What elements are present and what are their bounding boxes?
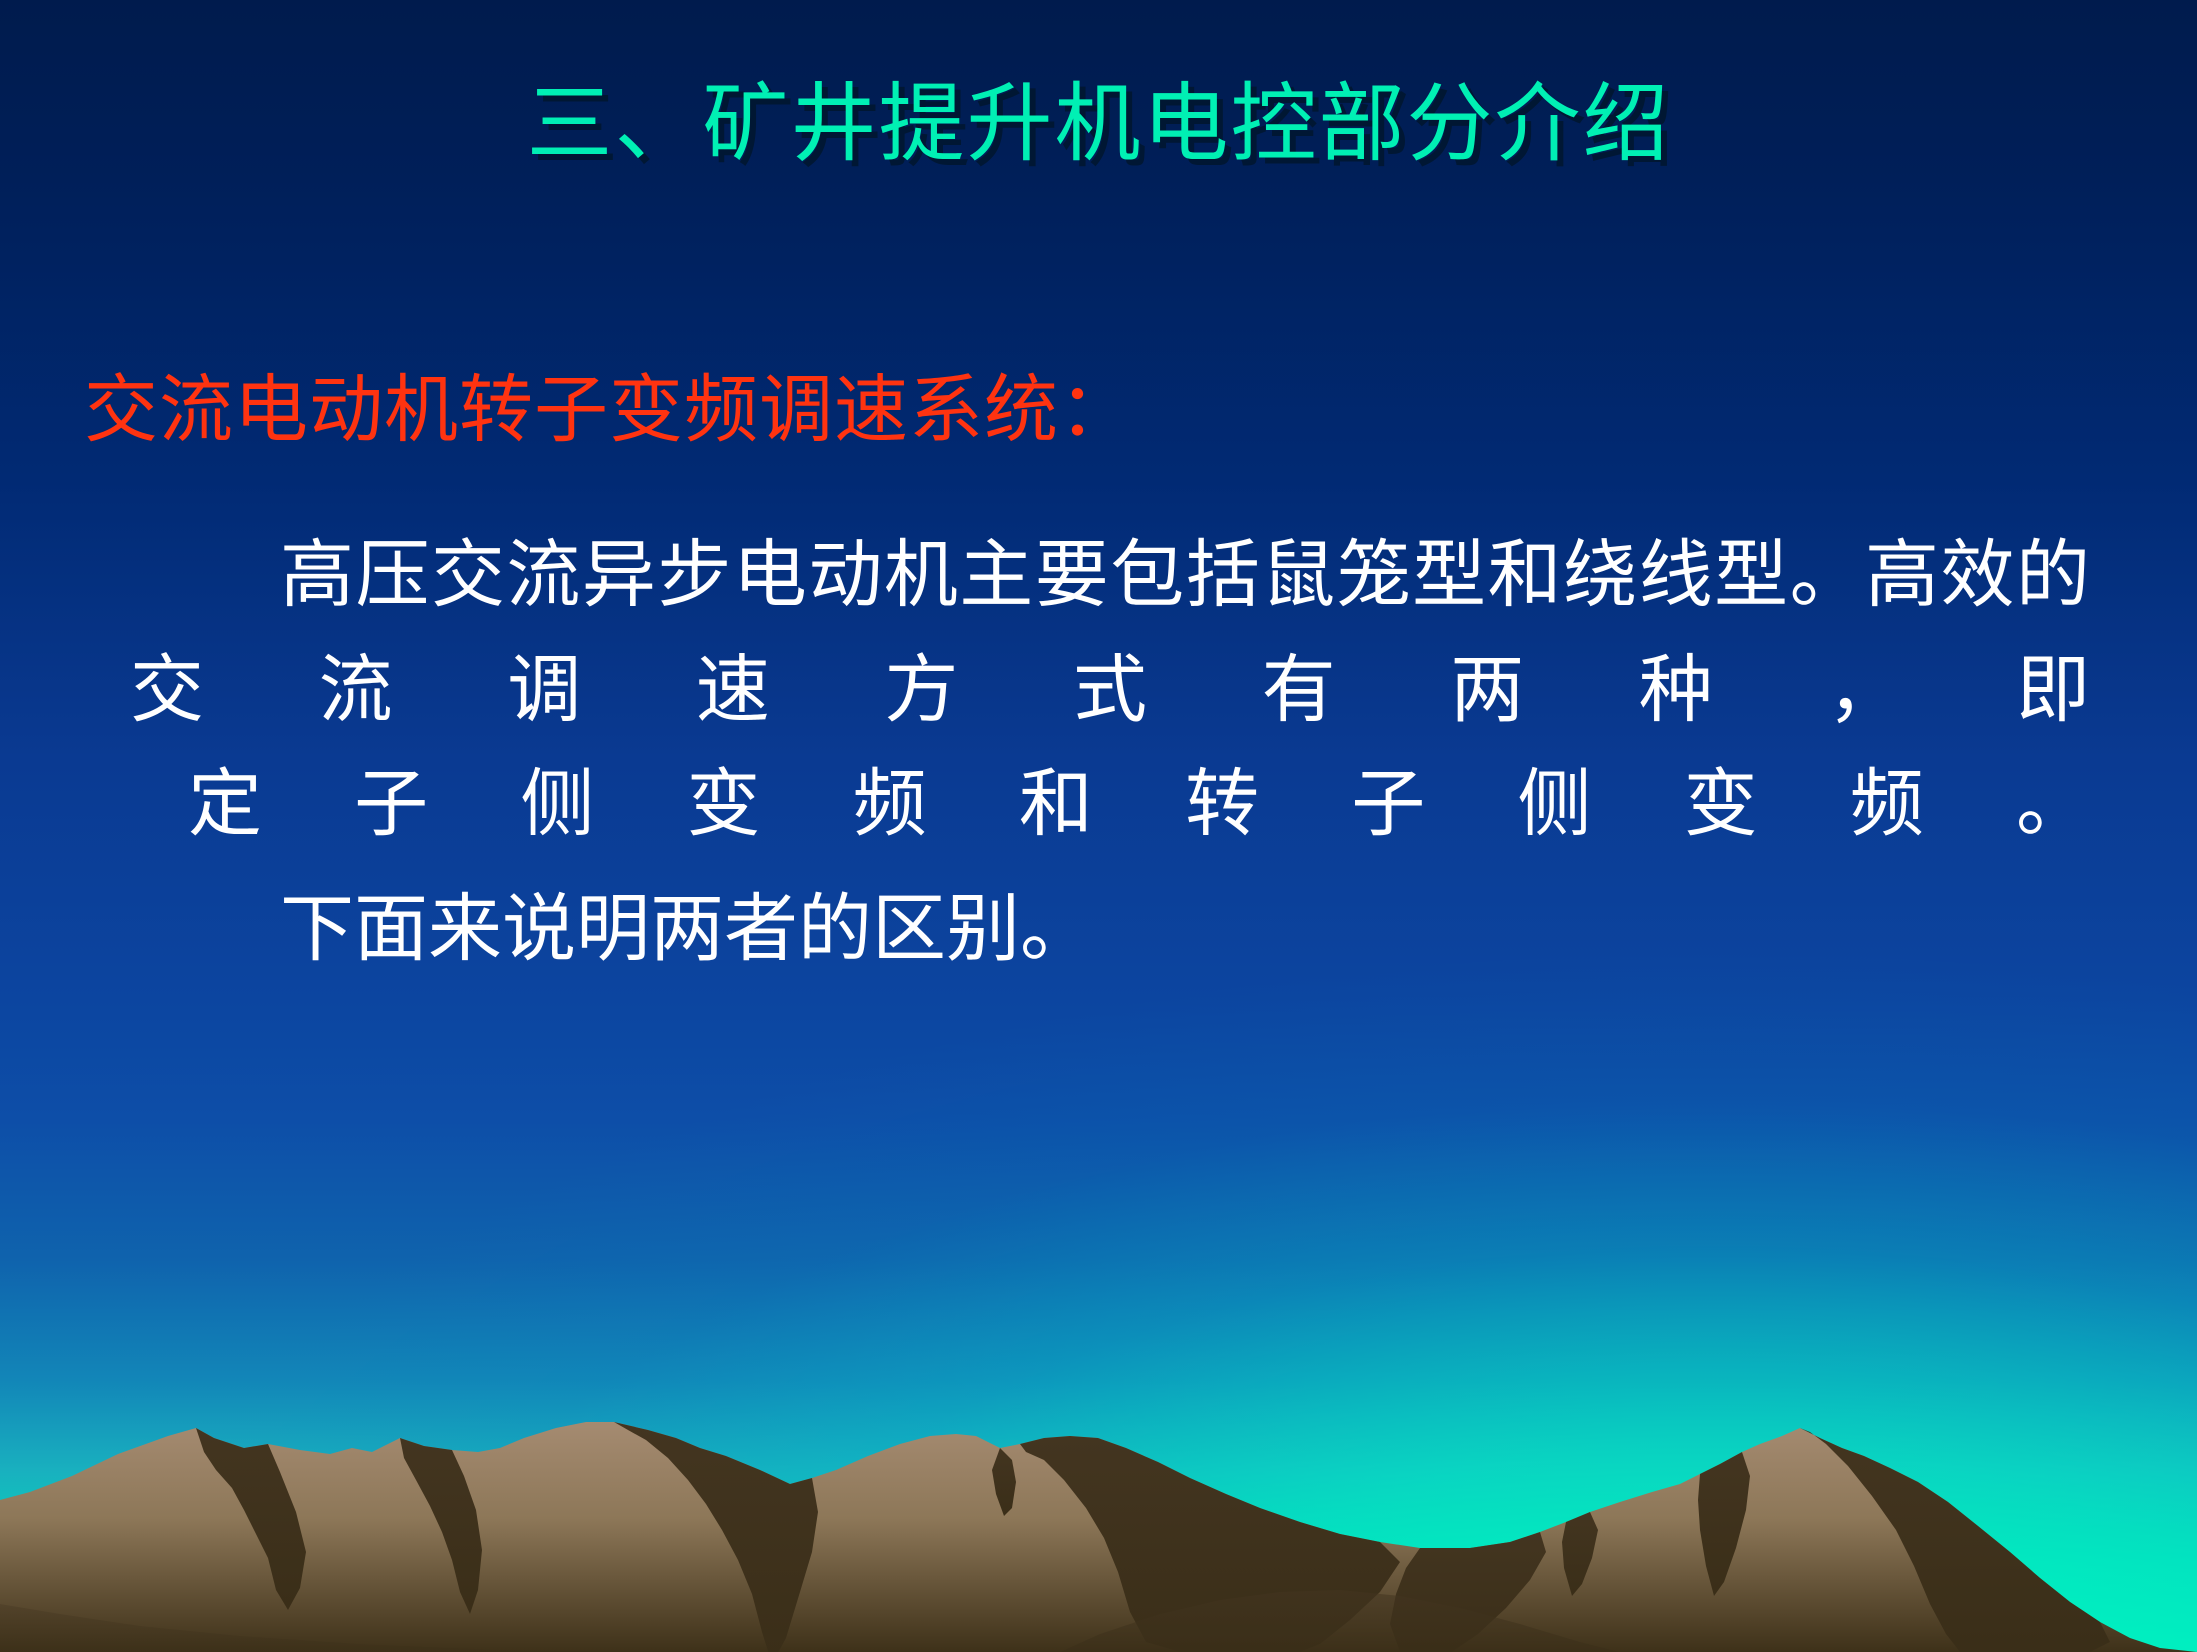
- slide-body: 高压交流异步电动机主要包括鼠笼型和绕线型。高效的交流调速方式有两种，即定子侧变频…: [130, 518, 2090, 987]
- body-paragraph-2: 下面来说明两者的区别。: [130, 872, 2090, 987]
- body-paragraph-1: 高压交流异步电动机主要包括鼠笼型和绕线型。高效的交流调速方式有两种，即定子侧变频…: [130, 518, 2090, 862]
- slide-subtitle: 交流电动机转子变频调速系统：: [84, 372, 1134, 450]
- slide-title: 三、矿井提升机电控部分介绍: [0, 78, 2197, 171]
- body-line-3: 定子侧变频和转子侧变频。: [130, 747, 2090, 862]
- slide-content: 三、矿井提升机电控部分介绍 交流电动机转子变频调速系统： 高压交流异步电动机主要…: [0, 0, 2197, 1652]
- body-line-1: 高压交流异步电动机主要包括鼠笼型和: [280, 532, 1563, 618]
- slide-canvas: 三、矿井提升机电控部分介绍 交流电动机转子变频调速系统： 高压交流异步电动机主要…: [0, 0, 2197, 1652]
